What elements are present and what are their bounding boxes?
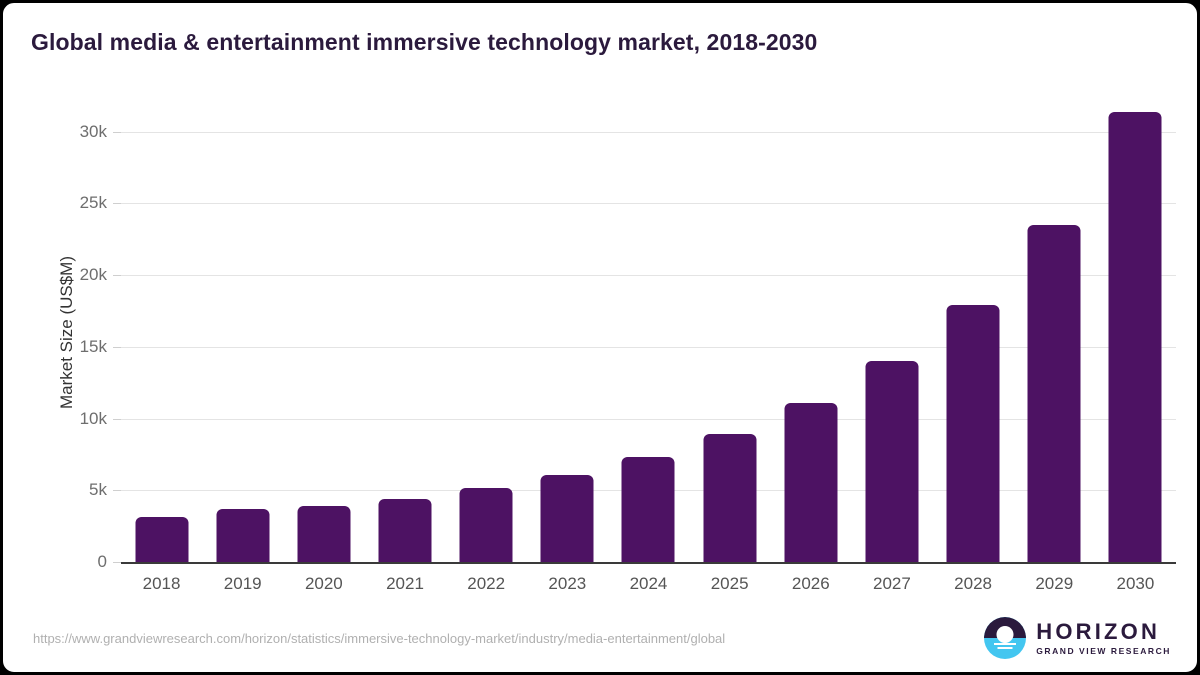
bar[interactable] xyxy=(135,517,188,562)
y-tick-mark xyxy=(113,562,121,563)
y-tick-label: 0 xyxy=(98,552,107,572)
x-tick-label: 2024 xyxy=(630,574,668,594)
bar-group[interactable]: 2023 xyxy=(527,103,608,562)
x-tick-label: 2026 xyxy=(792,574,830,594)
y-tick-label: 30k xyxy=(80,122,107,142)
bar[interactable] xyxy=(784,403,837,562)
x-tick-label: 2030 xyxy=(1116,574,1154,594)
bar[interactable] xyxy=(1109,112,1162,562)
bar[interactable] xyxy=(379,499,432,562)
bar[interactable] xyxy=(541,475,594,562)
plot-area: Market Size (US$M) 05k10k15k20k25k30k 20… xyxy=(121,103,1176,562)
y-tick-mark xyxy=(113,203,121,204)
bar-group[interactable]: 2025 xyxy=(689,103,770,562)
x-tick-label: 2028 xyxy=(954,574,992,594)
bar-series: 2018201920202021202220232024202520262027… xyxy=(121,103,1176,562)
bar-group[interactable]: 2021 xyxy=(364,103,445,562)
logo-wordmark: HORIZON xyxy=(1036,621,1171,643)
x-tick-label: 2023 xyxy=(548,574,586,594)
x-tick-label: 2025 xyxy=(711,574,749,594)
y-tick-label: 5k xyxy=(89,480,107,500)
bar-group[interactable]: 2028 xyxy=(933,103,1014,562)
bar-group[interactable]: 2029 xyxy=(1014,103,1095,562)
y-tick-mark xyxy=(113,347,121,348)
bar-group[interactable]: 2024 xyxy=(608,103,689,562)
bar-group[interactable]: 2027 xyxy=(851,103,932,562)
y-tick-label: 20k xyxy=(80,265,107,285)
bar-group[interactable]: 2026 xyxy=(770,103,851,562)
logo-ray-2 xyxy=(998,647,1013,649)
y-axis-title: Market Size (US$M) xyxy=(53,103,81,562)
bar-group[interactable]: 2030 xyxy=(1095,103,1176,562)
x-tick-label: 2018 xyxy=(143,574,181,594)
x-axis-baseline xyxy=(121,562,1176,564)
bar-group[interactable]: 2022 xyxy=(446,103,527,562)
y-tick-label: 10k xyxy=(80,409,107,429)
chart-figure: Global media & entertainment immersive t… xyxy=(0,0,1200,675)
bar[interactable] xyxy=(297,506,350,562)
page-title: Global media & entertainment immersive t… xyxy=(31,29,817,56)
x-tick-label: 2019 xyxy=(224,574,262,594)
x-tick-label: 2027 xyxy=(873,574,911,594)
x-tick-label: 2022 xyxy=(467,574,505,594)
x-tick-label: 2021 xyxy=(386,574,424,594)
y-tick-mark xyxy=(113,132,121,133)
bar[interactable] xyxy=(865,361,918,562)
y-tick-label: 25k xyxy=(80,193,107,213)
x-tick-label: 2020 xyxy=(305,574,343,594)
y-tick-mark xyxy=(113,419,121,420)
y-tick-mark xyxy=(113,490,121,491)
bar[interactable] xyxy=(703,434,756,562)
y-tick-mark xyxy=(113,275,121,276)
bar[interactable] xyxy=(460,488,513,562)
logo-sun xyxy=(997,626,1014,643)
logo-ray-1 xyxy=(994,643,1016,645)
brand-logo: HORIZON GRAND VIEW RESEARCH xyxy=(984,617,1171,659)
horizon-sunrise-icon xyxy=(984,617,1026,659)
source-url[interactable]: https://www.grandviewresearch.com/horizo… xyxy=(33,631,725,646)
logo-text: HORIZON GRAND VIEW RESEARCH xyxy=(1036,621,1171,656)
bar[interactable] xyxy=(216,509,269,562)
logo-tagline: GRAND VIEW RESEARCH xyxy=(1036,647,1171,656)
bar[interactable] xyxy=(622,457,675,562)
bar-group[interactable]: 2019 xyxy=(202,103,283,562)
x-tick-label: 2029 xyxy=(1035,574,1073,594)
y-tick-label: 15k xyxy=(80,337,107,357)
bar-group[interactable]: 2018 xyxy=(121,103,202,562)
bar[interactable] xyxy=(947,305,1000,562)
bar[interactable] xyxy=(1028,225,1081,562)
bar-group[interactable]: 2020 xyxy=(283,103,364,562)
